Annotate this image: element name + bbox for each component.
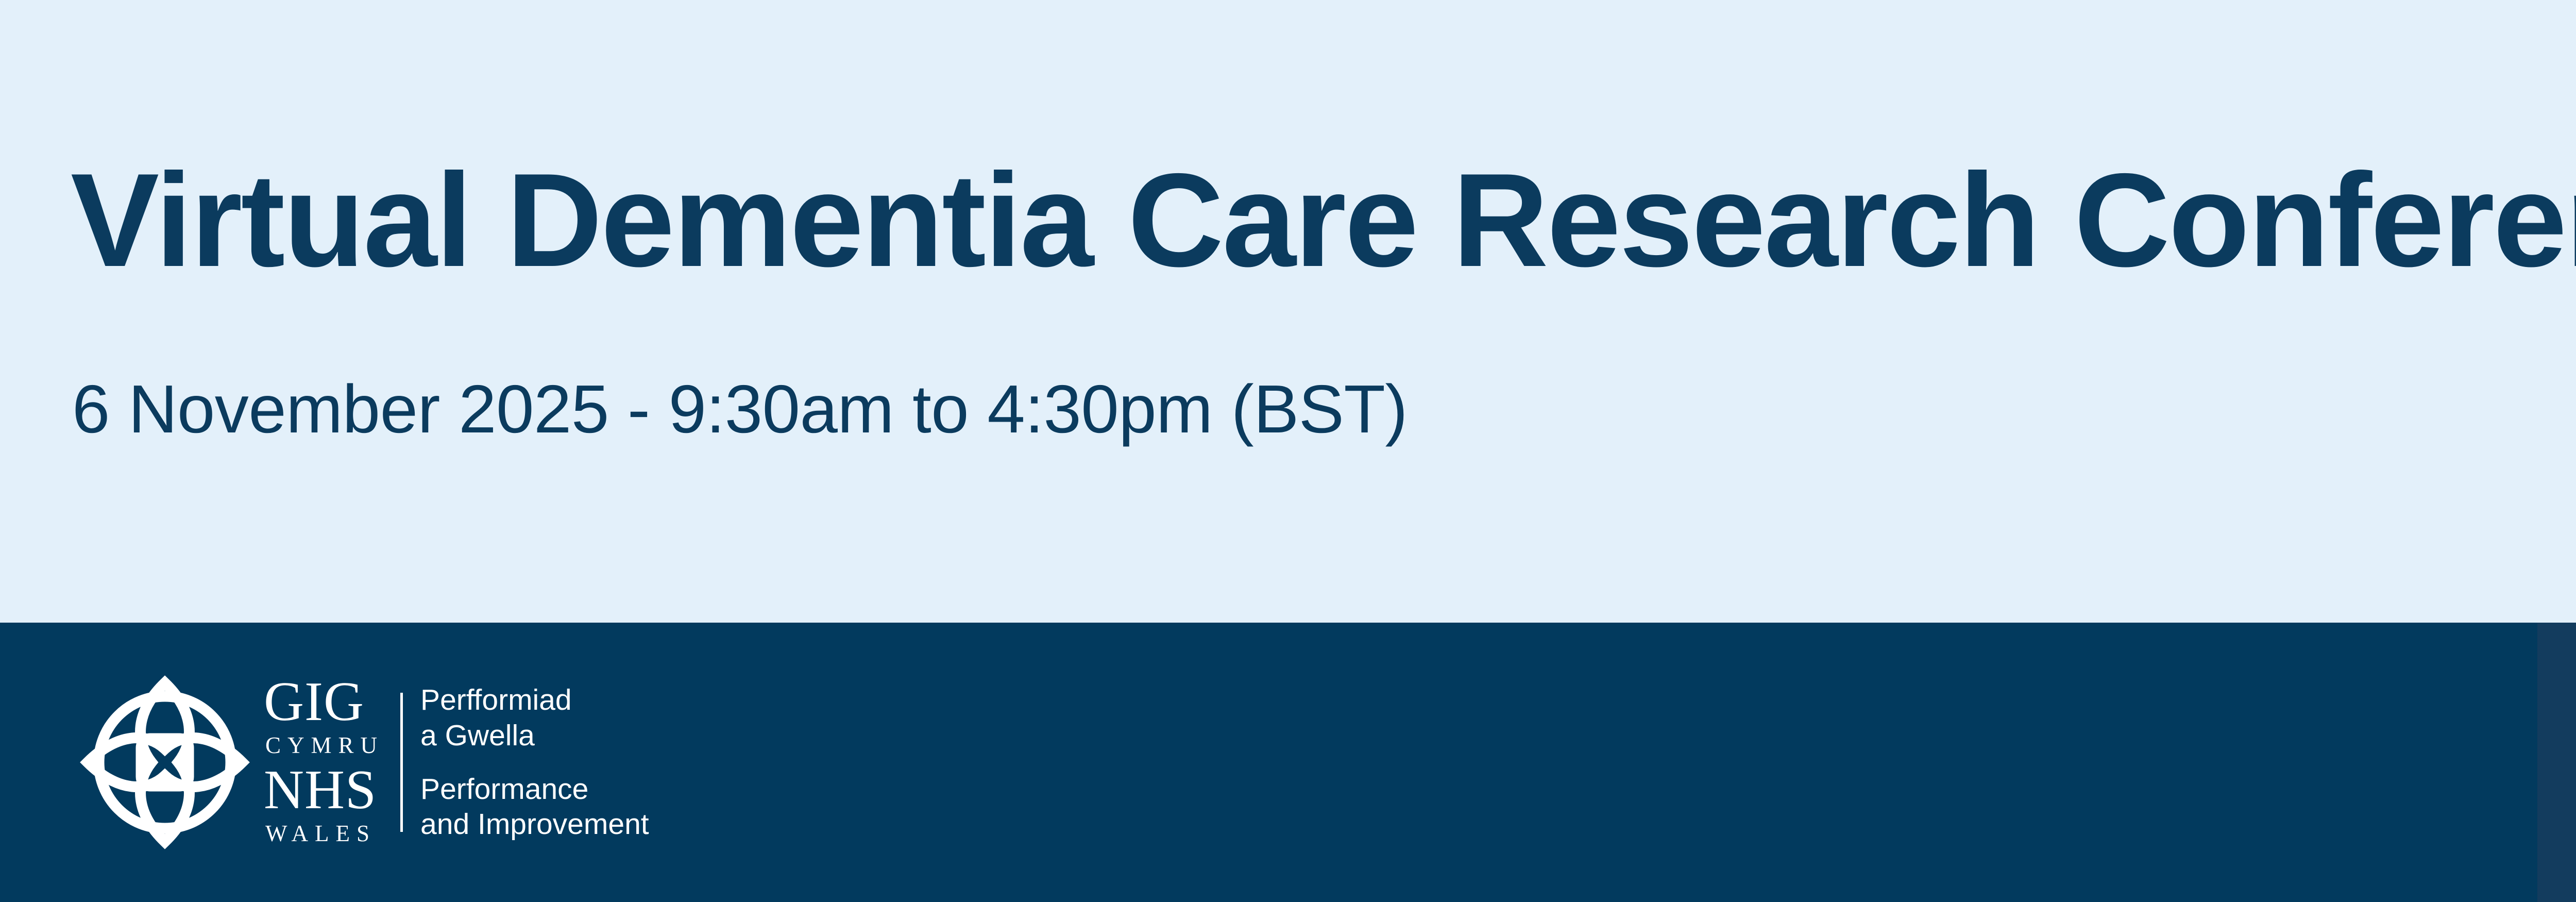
gig-nhs-wordmark: GIG CYMRU NHS WALES [264,674,384,850]
english-line-2: and Improvement [420,807,649,842]
organisation-name-english: Performance and Improvement [420,772,649,842]
nhs-wales-celtic-knot-icon [77,664,252,860]
nhs-wales-logo: GIG CYMRU NHS WALES Perfformiad a Gwella… [77,623,649,902]
logo-divider [400,693,403,832]
swoosh-panel [2537,623,2576,902]
cymru-word: CYMRU [265,734,384,757]
gig-word: GIG [264,674,384,730]
english-line-1: Performance [420,772,649,807]
page-title: Virtual Dementia Care Research Conferenc… [71,149,2576,290]
organisation-name: Perfformiad a Gwella Performance and Imp… [420,682,649,842]
wales-word: WALES [265,822,384,845]
conference-banner: Virtual Dementia Care Research Conferenc… [0,0,2576,902]
event-datetime: 6 November 2025 - 9:30am to 4:30pm (BST) [72,370,1408,448]
hero-section: Virtual Dementia Care Research Conferenc… [0,0,2576,623]
nhs-wales-swoosh-graphic [2537,623,2576,902]
welsh-line-1: Perfformiad [420,682,649,717]
footer-bar: GIG CYMRU NHS WALES Perfformiad a Gwella… [0,623,2576,902]
organisation-name-welsh: Perfformiad a Gwella [420,682,649,753]
welsh-line-2: a Gwella [420,718,649,753]
nhs-word: NHS [264,762,384,818]
